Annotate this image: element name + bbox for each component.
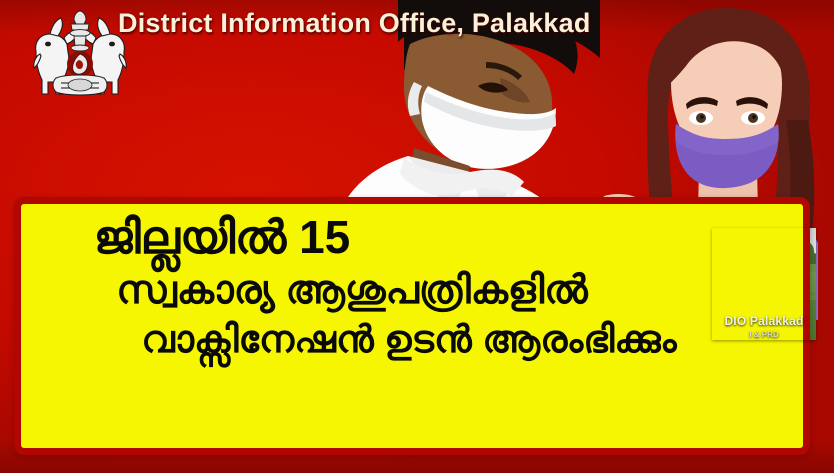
poster-root: District Information Office, Palakkad xyxy=(0,0,834,473)
inset-photo: DIO Palakkad I & PRD xyxy=(712,228,816,340)
kerala-state-emblem-icon xyxy=(28,8,132,104)
inset-subcaption: I & PRD xyxy=(712,330,816,339)
headline-line-2: സ്വകാര്യ ആശുപത്രികളിൽ xyxy=(116,271,587,311)
headline-banner: ജില്ലയിൽ 15 സ്വകാര്യ ആശുപത്രികളിൽ വാക്സി… xyxy=(14,197,810,455)
headline-lines: ജില്ലയിൽ 15 സ്വകാര്യ ആശുപത്രികളിൽ വാക്സി… xyxy=(21,210,803,359)
headline-line-3: വാക്സിനേഷൻ ഉടൻ ആരംഭിക്കും xyxy=(141,321,676,360)
inset-caption: DIO Palakkad xyxy=(712,314,816,328)
headline-line-1: ജില്ലയിൽ 15 xyxy=(94,214,351,261)
